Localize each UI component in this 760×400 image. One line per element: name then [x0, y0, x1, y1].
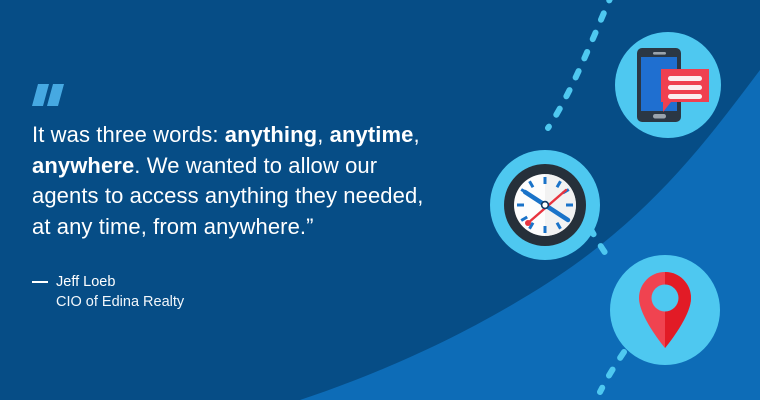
- chat-line: [668, 85, 702, 90]
- quote-line-4: at any time, from anywhere.”: [32, 214, 314, 239]
- clock-center-pin: [542, 202, 549, 209]
- quote-seg-bold: anywhere: [32, 153, 134, 178]
- em-dash-icon: [32, 281, 48, 283]
- quote-line-1: It was three words: anything, anytime,: [32, 122, 420, 147]
- quote-seg: ,: [317, 122, 329, 147]
- chat-line: [668, 76, 702, 81]
- pin-inner-hole: [652, 285, 679, 312]
- quote-line-3: agents to access anything they needed,: [32, 183, 424, 208]
- quote-text: It was three words: anything, anytime, a…: [32, 120, 462, 242]
- quote-block: It was three words: anything, anytime, a…: [32, 84, 462, 242]
- quote-line-2: anywhere. We wanted to allow our: [32, 153, 377, 178]
- chat-line: [668, 94, 702, 99]
- analog-clock-icon: [490, 150, 600, 260]
- quote-open-mark-icon: [32, 84, 72, 110]
- attribution-name: Jeff Loeb: [56, 272, 115, 292]
- quote-seg-bold: anytime: [330, 122, 414, 147]
- clock-second-hand-tail: [525, 220, 531, 226]
- attribution: Jeff Loeb CIO of Edina Realty: [32, 272, 184, 312]
- quote-seg: ,: [414, 122, 420, 147]
- mobile-phone-message-icon: [615, 32, 721, 138]
- attribution-role: CIO of Edina Realty: [56, 292, 184, 312]
- attribution-name-row: Jeff Loeb: [32, 272, 184, 292]
- map-location-pin-icon: [610, 255, 720, 365]
- testimonial-banner: It was three words: anything, anytime, a…: [0, 0, 760, 400]
- phone-home-button: [653, 114, 666, 119]
- quote-seg: . We wanted to allow our: [134, 153, 377, 178]
- quote-seg: It was three words:: [32, 122, 225, 147]
- quote-seg-bold: anything: [225, 122, 317, 147]
- phone-speaker: [653, 52, 666, 55]
